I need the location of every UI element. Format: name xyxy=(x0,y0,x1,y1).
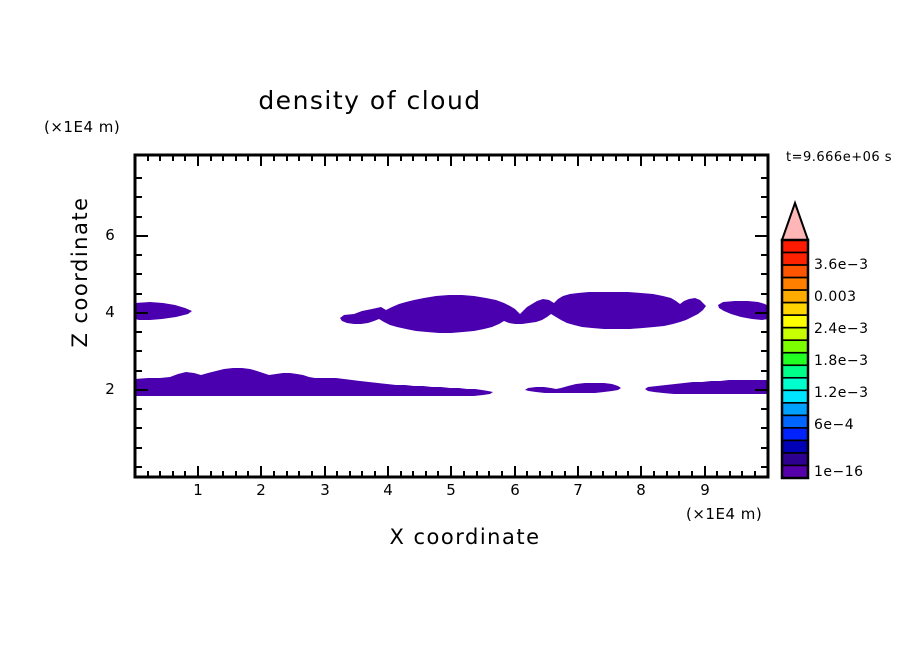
colorbar-band xyxy=(782,440,808,453)
colorbar-tick-label: 0.003 xyxy=(814,289,857,305)
colorbar-tick-label: 1e−16 xyxy=(814,464,864,480)
colorbar-tick-label: 1.8e−3 xyxy=(814,353,869,369)
contour-region-upper-right xyxy=(718,301,768,320)
colorbar-tick-label: 2.4e−3 xyxy=(814,321,869,337)
y-tick-label: 4 xyxy=(98,303,122,321)
x-tick-label: 6 xyxy=(500,481,530,499)
colorbar-band xyxy=(782,465,808,478)
figure-canvas: density of cloud (×1E4 m) t=9.666e+06 s … xyxy=(0,0,904,654)
colorbar-band xyxy=(782,290,808,303)
colorbar-band xyxy=(782,415,808,428)
colorbar-band xyxy=(782,390,808,403)
x-tick-label: 1 xyxy=(183,481,213,499)
contour-region-lower-right xyxy=(645,380,768,394)
colorbar-overflow-arrow xyxy=(782,203,808,240)
contour-region-upper-main xyxy=(340,292,706,333)
contour-region-upper-left xyxy=(135,302,192,320)
colorbar-band xyxy=(782,340,808,353)
colorbar-bands xyxy=(782,240,808,478)
contour-plot-svg xyxy=(0,0,904,654)
colorbar-band xyxy=(782,403,808,416)
colorbar-band xyxy=(782,303,808,316)
x-tick-label: 5 xyxy=(436,481,466,499)
contour-region-lower-mid xyxy=(525,383,621,393)
colorbar-band xyxy=(782,378,808,391)
colorbar-band xyxy=(782,353,808,366)
colorbar[interactable] xyxy=(782,203,808,478)
x-tick-label: 8 xyxy=(626,481,656,499)
colorbar-band xyxy=(782,253,808,266)
contour-data-regions xyxy=(135,292,768,396)
x-tick-label: 9 xyxy=(690,481,720,499)
x-tick-label: 7 xyxy=(563,481,593,499)
colorbar-band xyxy=(782,240,808,253)
colorbar-tick-label: 6e−4 xyxy=(814,417,854,433)
x-tick-label: 3 xyxy=(310,481,340,499)
colorbar-band xyxy=(782,428,808,441)
y-tick-label: 6 xyxy=(98,226,122,244)
colorbar-band xyxy=(782,365,808,378)
x-tick-label: 4 xyxy=(373,481,403,499)
colorbar-band xyxy=(782,265,808,278)
x-tick-label: 2 xyxy=(246,481,276,499)
colorbar-band xyxy=(782,278,808,291)
colorbar-band xyxy=(782,315,808,328)
colorbar-band xyxy=(782,453,808,466)
colorbar-band xyxy=(782,328,808,341)
contour-region-lower-main xyxy=(135,368,493,396)
y-tick-label: 2 xyxy=(98,380,122,398)
colorbar-tick-label: 1.2e−3 xyxy=(814,385,869,401)
colorbar-tick-label: 3.6e−3 xyxy=(814,257,869,273)
